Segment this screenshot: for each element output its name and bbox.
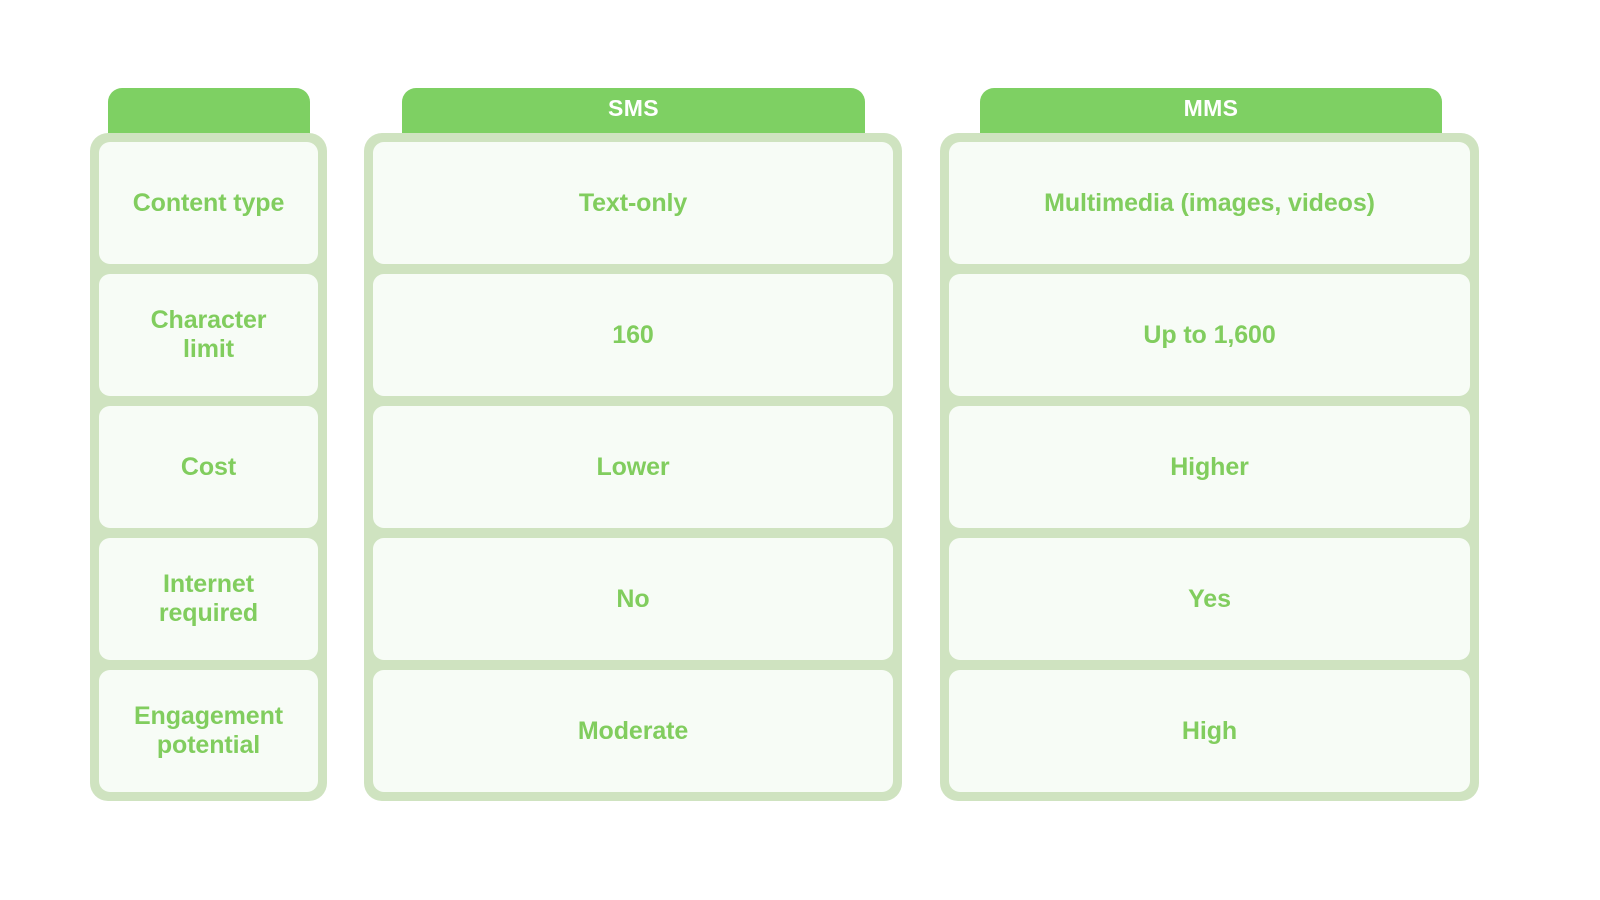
comparison-table: Content type Character limit Cost Intern…	[0, 0, 1600, 900]
table-row-cell-sms-3: No	[373, 538, 893, 660]
table-row-cell-mms-2: Higher	[949, 406, 1470, 528]
column-header-sms-label: SMS	[608, 97, 659, 120]
cell-value: 160	[612, 321, 653, 350]
table-row-cell-feature-3: Internet required	[99, 538, 318, 660]
cell-value: High	[1182, 717, 1237, 746]
table-row-cell-sms-2: Lower	[373, 406, 893, 528]
table-row-cell-feature-4: Engagement potential	[99, 670, 318, 792]
cell-value: Up to 1,600	[1143, 321, 1275, 350]
cell-value: Yes	[1188, 585, 1231, 614]
table-row-cell-sms-4: Moderate	[373, 670, 893, 792]
table-row-cell-mms-1: Up to 1,600	[949, 274, 1470, 396]
cell-label: Engagement potential	[134, 702, 283, 760]
cell-label: Cost	[181, 453, 236, 482]
table-row-cell-mms-4: High	[949, 670, 1470, 792]
cell-value: No	[616, 585, 649, 614]
table-row-cell-feature-0: Content type	[99, 142, 318, 264]
cell-value: Text-only	[579, 189, 687, 218]
column-panel-mms: Multimedia (images, videos) Up to 1,600 …	[940, 133, 1479, 801]
table-row-cell-mms-0: Multimedia (images, videos)	[949, 142, 1470, 264]
column-header-mms-label: MMS	[1184, 97, 1239, 120]
column-panel-feature: Content type Character limit Cost Intern…	[90, 133, 327, 801]
cell-label: Content type	[133, 189, 285, 218]
table-row-cell-feature-2: Cost	[99, 406, 318, 528]
cell-value: Higher	[1170, 453, 1249, 482]
cell-label: Internet required	[159, 570, 258, 628]
cell-value: Moderate	[578, 717, 688, 746]
table-row-cell-feature-1: Character limit	[99, 274, 318, 396]
cell-label: Character limit	[151, 306, 267, 364]
column-panel-sms: Text-only 160 Lower No Moderate	[364, 133, 902, 801]
cell-value: Lower	[596, 453, 669, 482]
table-row-cell-mms-3: Yes	[949, 538, 1470, 660]
table-row-cell-sms-1: 160	[373, 274, 893, 396]
cell-value: Multimedia (images, videos)	[1044, 189, 1375, 218]
table-row-cell-sms-0: Text-only	[373, 142, 893, 264]
